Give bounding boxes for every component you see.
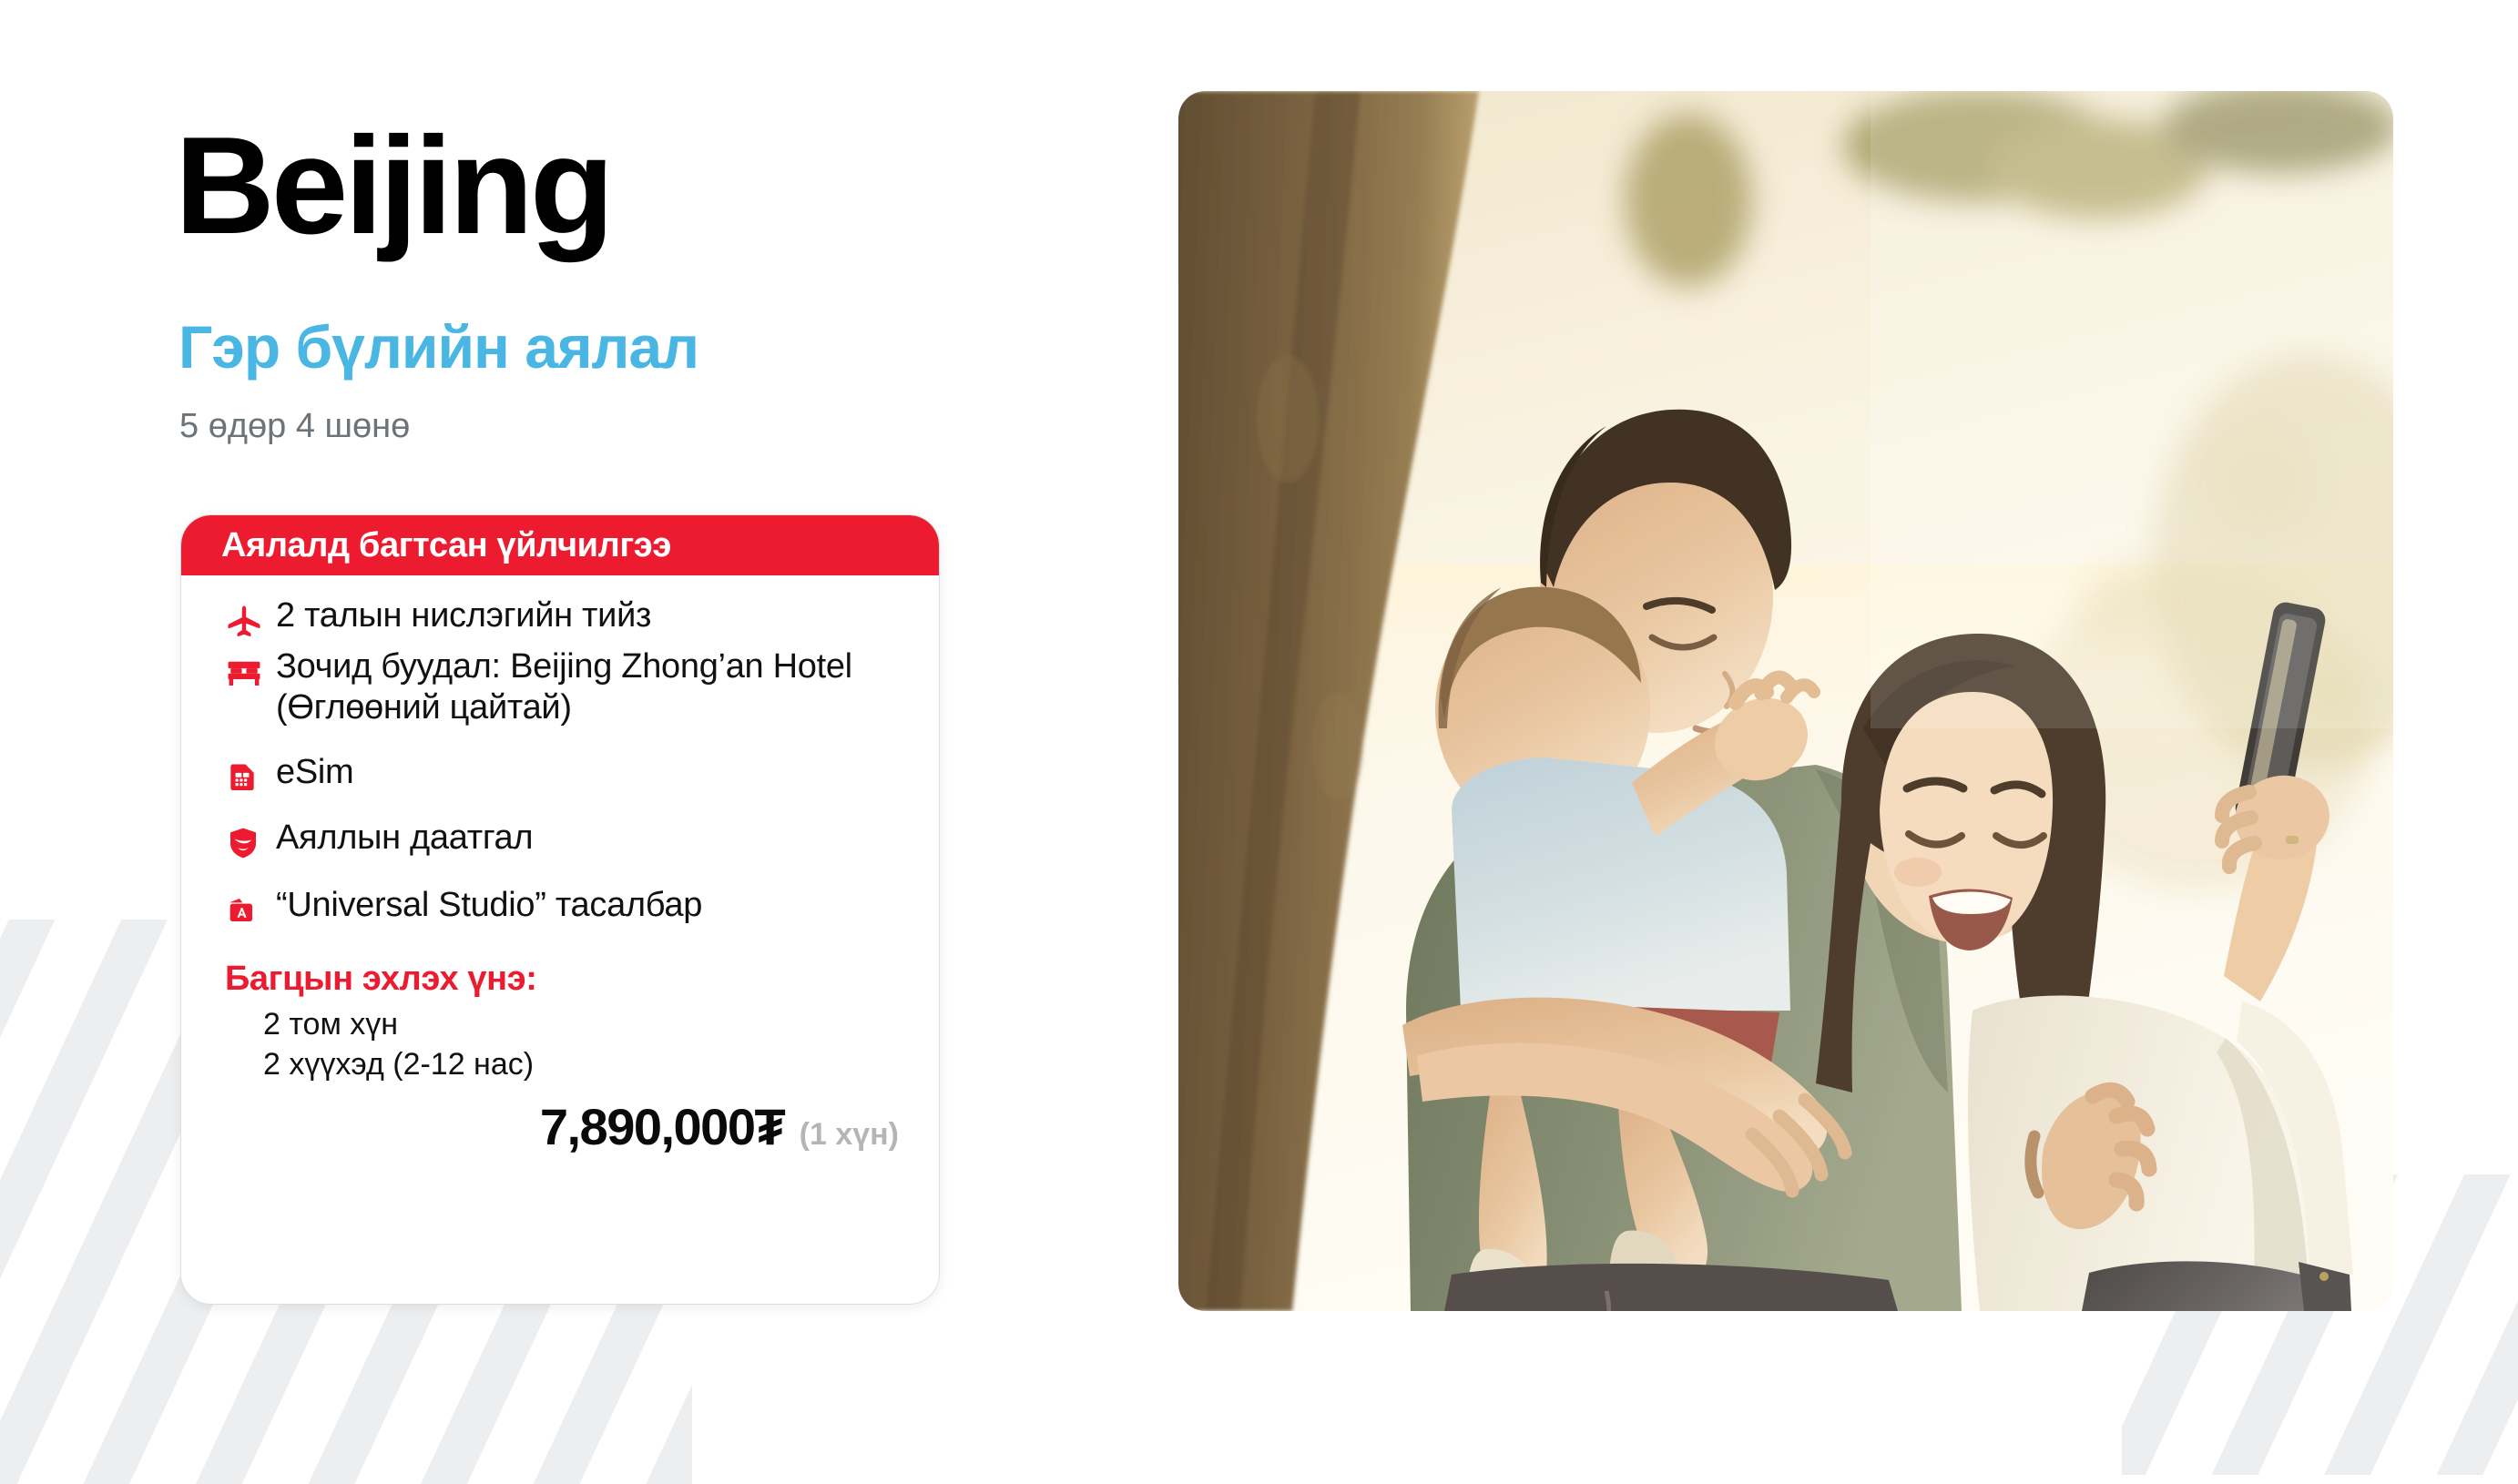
service-row-hotel: Зочид буудал: Beijing Zhong’an Hotel (Өг… xyxy=(181,646,939,728)
service-label: Аяллын даатгал xyxy=(276,818,533,859)
service-list: 2 талын нислэгийн тийз Зочид буудал: Bei… xyxy=(181,575,939,929)
service-label: 2 талын нислэгийн тийз xyxy=(276,595,651,636)
service-label: “Universal Studio” тасалбар xyxy=(276,885,702,926)
bed-icon xyxy=(225,646,276,692)
airplane-icon xyxy=(225,595,276,641)
price-pax-adults: 2 том хүн xyxy=(263,1004,902,1044)
ticket-icon xyxy=(225,885,276,929)
shield-plane-icon xyxy=(225,818,276,861)
service-row-esim: eSim xyxy=(181,752,939,794)
sim-card-icon xyxy=(225,752,276,794)
card-header-bar: Аялалд багтсан үйлчилгээ xyxy=(181,515,939,575)
trip-duration-text: 5 өдөр 4 шөнө xyxy=(179,407,410,446)
family-photo xyxy=(1178,91,2393,1311)
service-label: eSim xyxy=(276,752,353,793)
price-unit: (1 хүн) xyxy=(800,1117,899,1152)
card-header-label: Аялалд багтсан үйлчилгээ xyxy=(221,526,671,565)
included-services-card: Аялалд багтсан үйлчилгээ 2 талын нислэги… xyxy=(180,514,940,1305)
service-row-flight: 2 талын нислэгийн тийз xyxy=(181,595,939,641)
price-pax-children: 2 хүүхэд (2-12 нас) xyxy=(263,1044,902,1084)
service-label: Зочид буудал: Beijing Zhong’an Hotel (Өг… xyxy=(276,646,902,728)
price-block: Багцын эхлэх үнэ: 2 том хүн 2 хүүхэд (2-… xyxy=(181,952,939,1156)
left-content-column: Beijing Гэр бүлийн аялал 5 өдөр 4 шөнө А… xyxy=(0,0,1093,1420)
family-photo-illustration xyxy=(1178,91,2393,1311)
service-row-insurance: Аяллын даатгал xyxy=(181,818,939,861)
price-final-row: 7,890,000₮ (1 хүн) xyxy=(225,1097,902,1156)
price-heading: Багцын эхлэх үнэ: xyxy=(225,960,902,999)
service-row-ticket: “Universal Studio” тасалбар xyxy=(181,885,939,929)
price-amount: 7,890,000₮ xyxy=(540,1098,784,1155)
trip-type-subtitle: Гэр бүлийн аялал xyxy=(178,317,698,377)
page-title: Beijing xyxy=(175,117,611,255)
